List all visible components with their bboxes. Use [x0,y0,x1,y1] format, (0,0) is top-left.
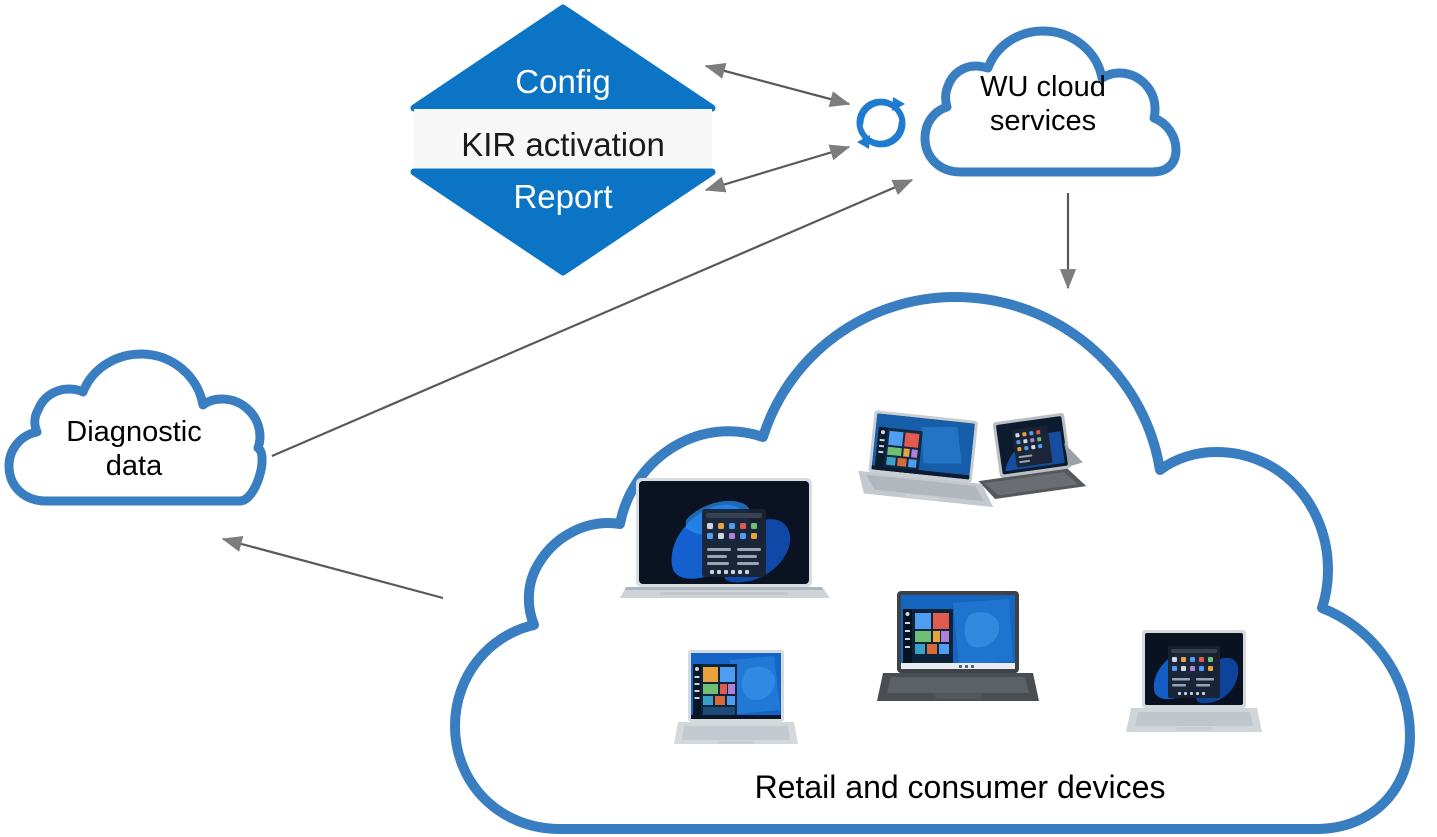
diagnostic-cloud-shape [9,354,262,501]
sync-refresh-icon[interactable] [857,97,905,149]
devices-cloud-shape [455,297,1410,829]
device-laptop-pair-win10-win11 [858,408,1100,512]
edge-config-to-wu [706,66,849,104]
edge-report-to-wu [706,147,849,190]
hexagon-middle-band [414,109,712,171]
device-surface-laptop-win11 [1126,628,1262,736]
hexagon-bottom-triangle [414,172,712,272]
wu-cloud-shape [925,31,1176,172]
wu-cloud-services-node[interactable] [925,31,1176,172]
kir-activation-hexagon[interactable] [414,8,712,272]
device-business-laptop-win10 [877,589,1039,707]
edge-devices-to-diagnostic [223,539,443,598]
diagnostic-data-cloud-node[interactable] [9,354,262,501]
hexagon-top-triangle [414,8,712,108]
retail-consumer-devices-cloud-node[interactable] [455,297,1410,829]
device-surface-book-win10 [674,648,798,748]
diagram-canvas: Config KIR activation Report WU cloud se… [0,0,1437,837]
device-surface-laptop-studio-win11 [624,476,840,600]
